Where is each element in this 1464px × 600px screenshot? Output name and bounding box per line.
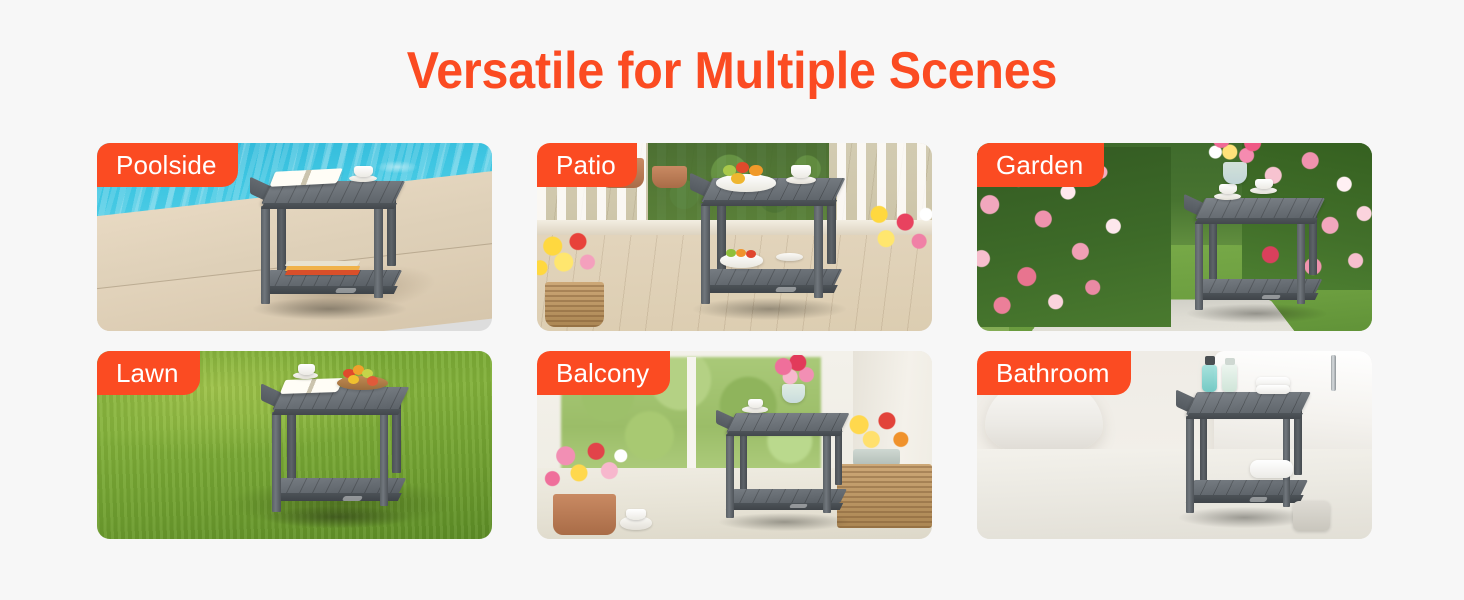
side-table-product xyxy=(1178,184,1328,323)
side-table-product xyxy=(711,400,853,532)
coffee-cup xyxy=(354,166,372,178)
tea-cup-2 xyxy=(1255,179,1273,189)
table-leg-front-left xyxy=(272,412,280,512)
scene-badge-label: Bathroom xyxy=(996,351,1110,395)
table-top-edge xyxy=(701,200,837,206)
flower-bouquet xyxy=(769,355,817,389)
table-leg-front-right xyxy=(814,197,823,298)
shelf-fruit-orange xyxy=(736,249,746,257)
tea-cup xyxy=(748,399,764,408)
side-table-product xyxy=(243,166,409,320)
flower-pot-left xyxy=(553,494,616,535)
shelf-book-3 xyxy=(285,270,361,275)
flower-bunch-left xyxy=(537,229,608,285)
table-top-edge xyxy=(272,409,401,415)
table-shadow xyxy=(264,506,409,528)
floor-towel xyxy=(1293,501,1330,531)
page-title: Versatile for Multiple Scenes xyxy=(51,40,1413,102)
tea-cup xyxy=(298,364,315,375)
table-leg-front-left xyxy=(701,203,710,304)
scene-badge-patio: Patio xyxy=(537,143,637,187)
table-top-slats xyxy=(1186,392,1311,415)
scene-badge-balcony: Balcony xyxy=(537,351,670,395)
fruit-orange xyxy=(749,165,762,176)
scene-card-bathroom[interactable]: Bathroom xyxy=(977,351,1372,539)
promo-banner: Versatile for Multiple Scenes xyxy=(0,0,1464,600)
terracotta-pot-2 xyxy=(652,166,688,189)
scene-badge-lawn: Lawn xyxy=(97,351,200,395)
table-shadow xyxy=(693,298,846,320)
fruit-lemon xyxy=(731,173,744,184)
scene-card-poolside[interactable]: Poolside xyxy=(97,143,492,331)
rolled-towel-shelf xyxy=(1250,460,1293,478)
side-table-product xyxy=(255,372,413,528)
scene-badge-label: Balcony xyxy=(556,351,649,395)
folded-towel-top-2 xyxy=(1256,385,1290,394)
flower-bunch-left xyxy=(541,441,636,497)
table-top-edge xyxy=(1195,218,1318,224)
side-table-product xyxy=(1171,377,1313,527)
table-leg-front-left xyxy=(726,434,733,518)
table-shadow xyxy=(253,298,406,320)
floor-cup xyxy=(626,509,646,520)
brand-logo-plate xyxy=(335,288,357,293)
table-top-edge xyxy=(1186,413,1303,419)
table-leg-front-left xyxy=(1186,416,1193,512)
table-top-slats xyxy=(1195,198,1325,219)
scene-badge-label: Patio xyxy=(556,143,616,187)
wicker-planter-left xyxy=(545,282,604,327)
window-frame xyxy=(687,357,696,485)
scene-card-lawn[interactable]: Lawn xyxy=(97,351,492,539)
table-top-edge xyxy=(726,431,842,436)
brand-logo-plate xyxy=(1261,295,1281,299)
fruit-plate xyxy=(716,174,776,191)
scene-card-patio[interactable]: Patio xyxy=(537,143,932,331)
table-leg-front-right xyxy=(1297,215,1305,304)
scene-badge-label: Garden xyxy=(996,143,1083,187)
soap-pump xyxy=(1205,356,1215,365)
faucet xyxy=(1331,355,1336,391)
brand-logo-plate xyxy=(775,287,797,292)
table-top-edge xyxy=(261,203,397,209)
table-shadow xyxy=(1187,304,1325,323)
tea-cup xyxy=(791,165,811,178)
table-shadow xyxy=(719,513,850,531)
lotion-cap xyxy=(1225,358,1235,366)
table-leg-front-right xyxy=(823,429,830,513)
table-leg-front-right xyxy=(1283,410,1290,506)
lotion-bottle xyxy=(1222,364,1238,393)
scene-badge-label: Lawn xyxy=(116,351,179,395)
flower-bunch-right xyxy=(853,199,932,263)
table-shadow xyxy=(1179,507,1310,528)
scene-badge-label: Poolside xyxy=(116,143,217,187)
scene-card-grid: Poolside xyxy=(97,143,1367,539)
tea-cup-1 xyxy=(1219,184,1237,194)
brand-logo-plate xyxy=(342,496,363,501)
table-top-slats xyxy=(726,413,849,433)
table-leg-front-left xyxy=(1195,221,1203,310)
brand-logo-plate xyxy=(1249,497,1268,502)
shelf-fruit-pear xyxy=(726,249,736,257)
side-table-product xyxy=(683,162,849,320)
scene-badge-bathroom: Bathroom xyxy=(977,351,1131,395)
scene-card-balcony[interactable]: Balcony xyxy=(537,351,932,539)
scene-card-garden[interactable]: Garden xyxy=(977,143,1372,331)
scene-badge-poolside: Poolside xyxy=(97,143,238,187)
table-leg-front-left xyxy=(261,206,270,305)
open-book xyxy=(280,378,343,394)
flower-bouquet xyxy=(1207,143,1267,168)
bowl-fruit-peach xyxy=(367,376,378,385)
soap-dispenser xyxy=(1202,365,1218,392)
table-leg-front-right xyxy=(374,199,383,298)
table-leg-front-right xyxy=(380,406,388,506)
scene-badge-garden: Garden xyxy=(977,143,1104,187)
